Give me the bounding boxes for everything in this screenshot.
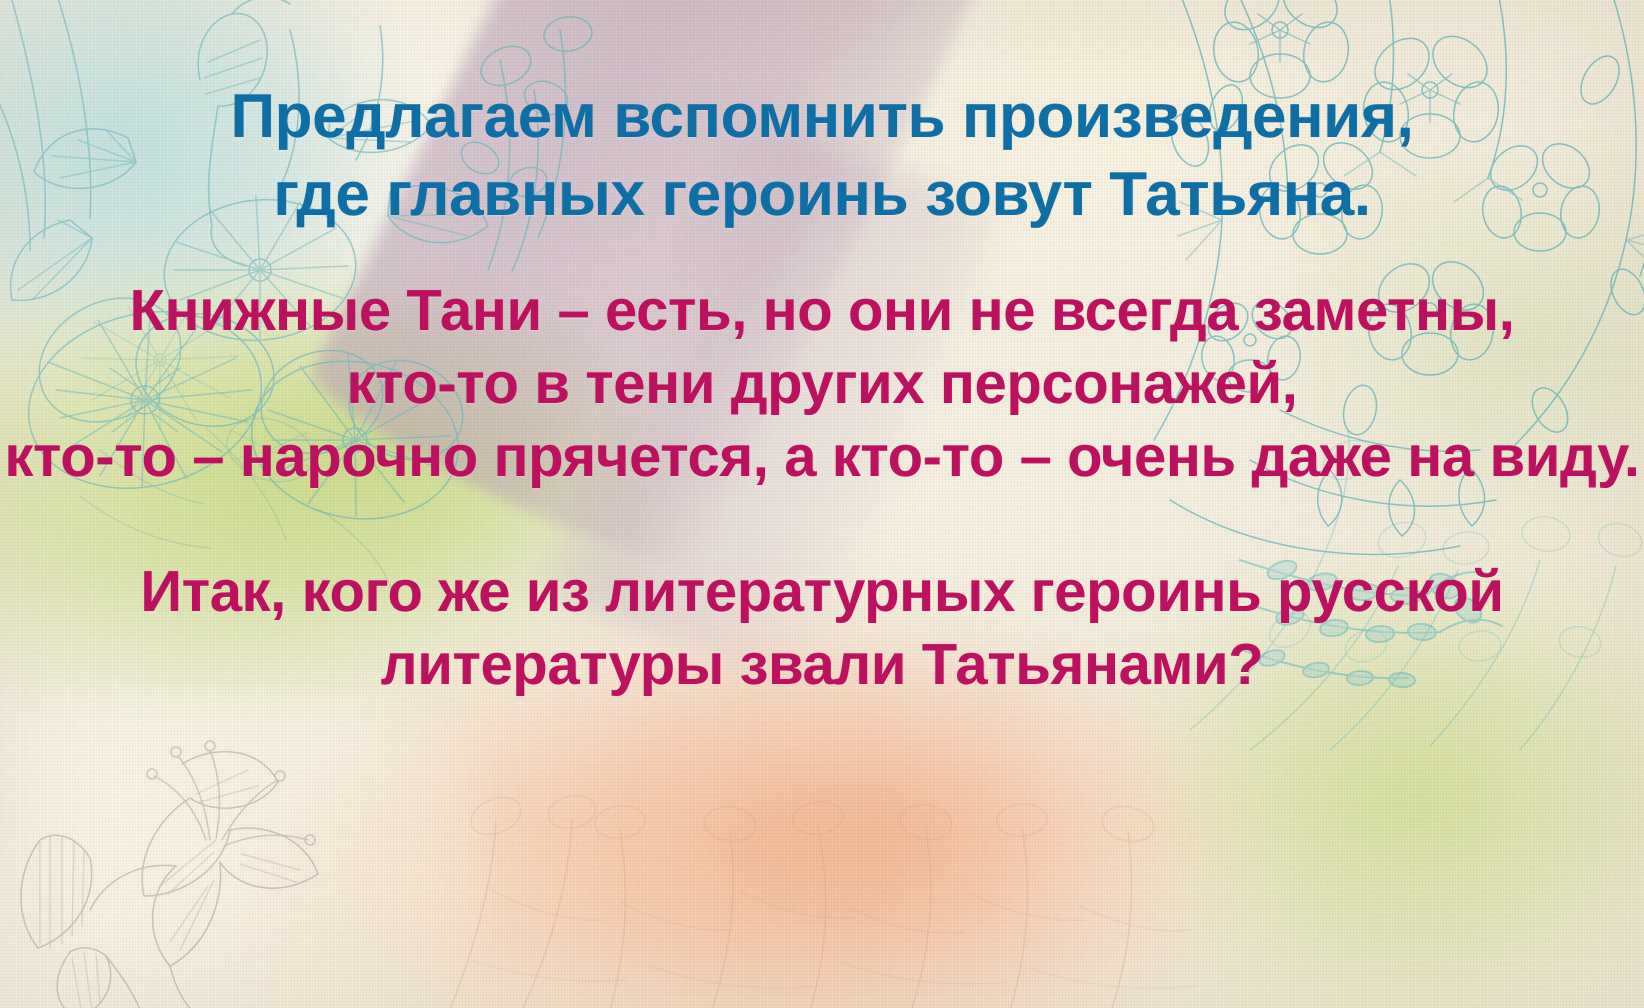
heading-block: Предлагаем вспомнить произведения, где г… <box>0 78 1644 234</box>
paragraph-two-line-2: литературы звали Татьянами? <box>0 628 1644 701</box>
heading-line-1: Предлагаем вспомнить произведения, <box>0 78 1644 156</box>
heading-line-2: где главных героинь зовут Татьяна. <box>0 156 1644 234</box>
paragraph-one-line-2: кто-то в тени других персонажей, <box>0 347 1644 420</box>
paragraph-one-block: Книжные Тани – есть, но они не всегда за… <box>0 274 1644 493</box>
paragraph-one-line-1: Книжные Тани – есть, но они не всегда за… <box>0 274 1644 347</box>
slide-text-content: Предлагаем вспомнить произведения, где г… <box>0 0 1644 1008</box>
paragraph-two-line-1: Итак, кого же из литературных героинь ру… <box>0 555 1644 628</box>
paragraph-one-line-3: кто-то – нарочно прячется, а кто-то – оч… <box>0 420 1644 493</box>
paragraph-two-block: Итак, кого же из литературных героинь ру… <box>0 555 1644 701</box>
slide-canvas: Предлагаем вспомнить произведения, где г… <box>0 0 1644 1008</box>
